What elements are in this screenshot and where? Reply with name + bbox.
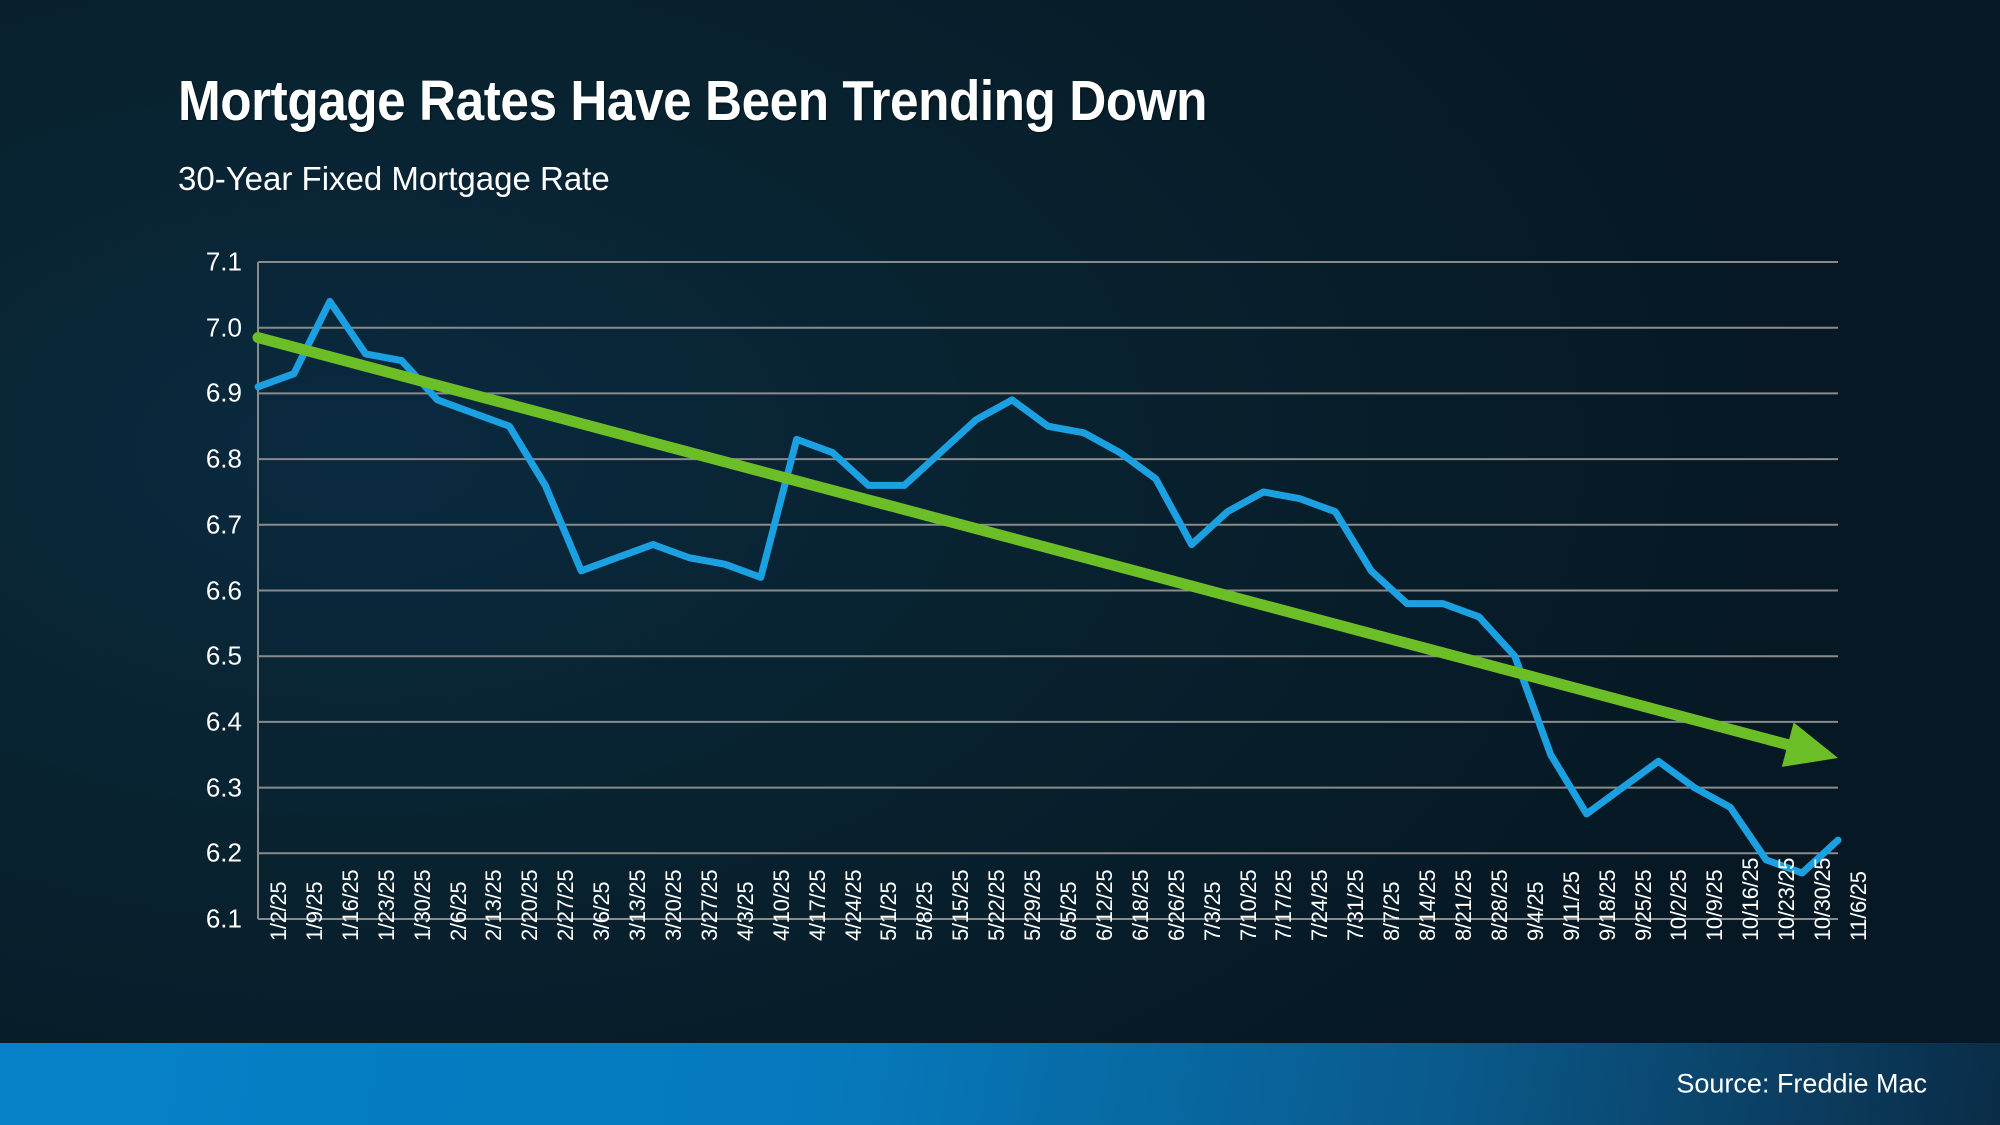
x-tick-label: 6/26/25: [1164, 870, 1190, 941]
x-tick-label: 9/4/25: [1523, 882, 1549, 941]
x-tick-label: 8/28/25: [1487, 870, 1513, 941]
x-tick-label: 1/30/25: [410, 870, 436, 941]
x-tick-label: 3/20/25: [661, 870, 687, 941]
x-tick-label: 1/2/25: [266, 882, 292, 941]
x-tick-label: 5/29/25: [1020, 870, 1046, 941]
x-tick-label: 7/17/25: [1271, 870, 1297, 941]
x-tick-label: 3/6/25: [589, 882, 615, 941]
x-tick-label: 8/14/25: [1415, 870, 1441, 941]
x-tick-label: 3/27/25: [697, 870, 723, 941]
x-tick-label: 2/27/25: [553, 870, 579, 941]
x-tick-label: 9/18/25: [1595, 870, 1621, 941]
x-tick-label: 2/13/25: [481, 870, 507, 941]
x-tick-label: 10/23/25: [1774, 858, 1800, 941]
x-tick-label: 1/9/25: [302, 882, 328, 941]
x-tick-label: 4/17/25: [805, 870, 831, 941]
x-tick-label: 5/8/25: [912, 882, 938, 941]
x-tick-label: 8/7/25: [1379, 882, 1405, 941]
x-tick-label: 9/11/25: [1559, 871, 1585, 941]
x-tick-label: 1/16/25: [338, 870, 364, 941]
x-tick-label: 1/23/25: [374, 870, 400, 941]
x-tick-label: 4/24/25: [841, 870, 867, 941]
x-tick-label: 7/10/25: [1236, 870, 1262, 941]
x-tick-label: 5/1/25: [876, 882, 902, 941]
x-tick-label: 5/15/25: [948, 870, 974, 941]
x-tick-label: 2/6/25: [446, 882, 472, 941]
x-tick-label: 7/24/25: [1307, 870, 1333, 941]
x-tick-label: 10/16/25: [1738, 858, 1764, 941]
x-tick-label: 10/2/25: [1666, 870, 1692, 941]
x-tick-label: 8/21/25: [1451, 870, 1477, 941]
footer-bar: Source: Freddie Mac: [0, 1043, 2000, 1125]
source-label: Source: Freddie Mac: [1676, 1069, 1927, 1100]
x-tick-label: 5/22/25: [984, 870, 1010, 941]
x-tick-label: 11/6/25: [1846, 871, 1872, 941]
x-tick-label: 9/25/25: [1631, 870, 1657, 941]
x-tick-label: 3/13/25: [625, 870, 651, 941]
x-tick-label: 4/3/25: [733, 882, 759, 941]
x-tick-label: 10/9/25: [1702, 870, 1728, 941]
x-tick-label: 10/30/25: [1810, 858, 1836, 941]
x-tick-label: 6/12/25: [1092, 870, 1118, 941]
x-tick-label: 2/20/25: [517, 870, 543, 941]
x-tick-label: 7/31/25: [1343, 870, 1369, 941]
x-tick-label: 6/18/25: [1128, 870, 1154, 941]
x-tick-label: 6/5/25: [1056, 882, 1082, 941]
x-tick-label: 4/10/25: [769, 870, 795, 941]
x-tick-label: 7/3/25: [1200, 882, 1226, 941]
x-axis-labels: 1/2/251/9/251/16/251/23/251/30/252/6/252…: [0, 0, 2000, 1125]
